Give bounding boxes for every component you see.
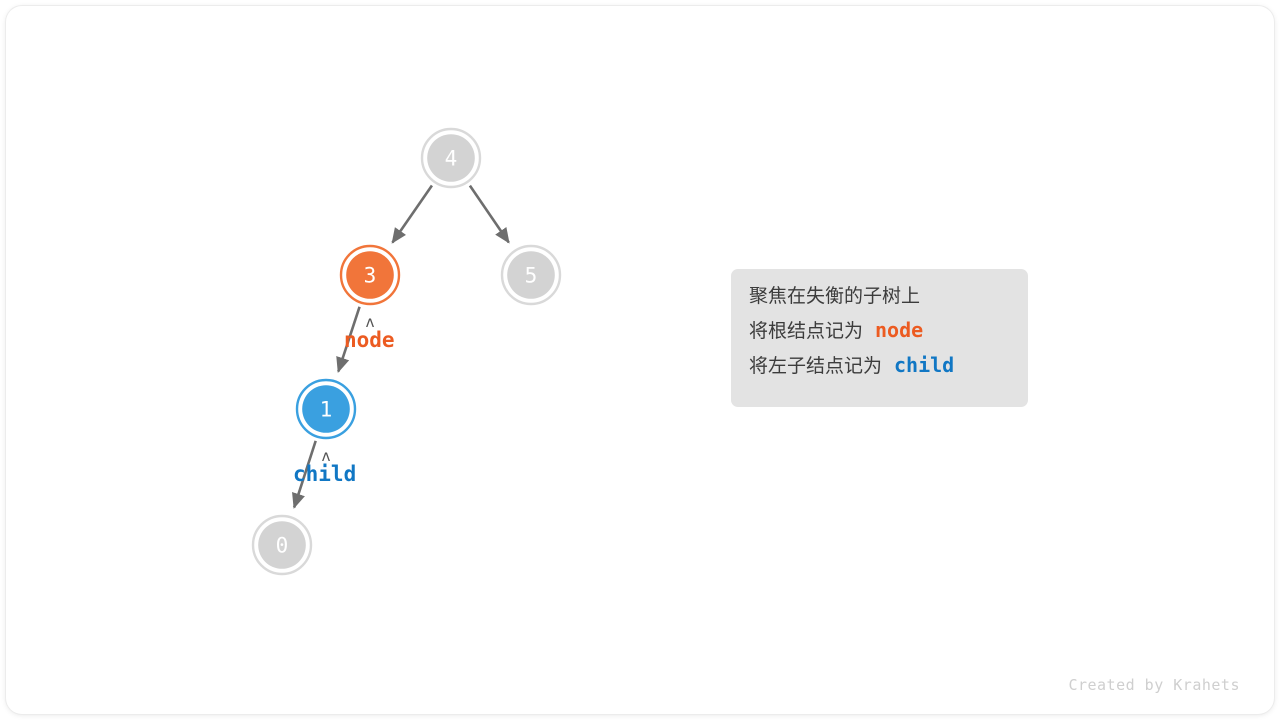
- tree-node-0[interactable]: 0: [253, 516, 311, 574]
- tree-edge-n4-n5: [470, 186, 509, 243]
- annotation-label: node: [344, 328, 395, 352]
- tree-node-3[interactable]: 3: [341, 246, 399, 304]
- annotation-node: ʌnode: [344, 313, 395, 352]
- info-box-text: 将左子结点记为: [749, 355, 882, 377]
- tree-node-value: 3: [364, 264, 377, 288]
- info-box-text: 将根结点记为: [749, 320, 863, 342]
- info-box-code: node: [875, 318, 923, 342]
- tree-edge-n4-n3: [392, 186, 431, 243]
- info-box-text: 聚焦在失衡的子树上: [749, 285, 920, 307]
- info-box-code: child: [894, 353, 954, 377]
- tree-nodes: 43510: [253, 129, 560, 574]
- tree-node-value: 5: [525, 264, 538, 288]
- tree-node-5[interactable]: 5: [502, 246, 560, 304]
- tree-node-1[interactable]: 1: [297, 380, 355, 438]
- info-box-line: 将左子结点记为child: [749, 353, 954, 377]
- avl-tree-diagram: 43510 ʌnodeʌchild 聚焦在失衡的子树上将根结点记为node将左子…: [0, 0, 1280, 720]
- annotation-child: ʌchild: [293, 447, 356, 486]
- info-box-line: 聚焦在失衡的子树上: [749, 285, 920, 307]
- credit-label: Created by Krahets: [1068, 676, 1240, 694]
- annotation-label: child: [293, 462, 356, 486]
- info-box: 聚焦在失衡的子树上将根结点记为node将左子结点记为child: [731, 269, 1028, 407]
- tree-node-value: 4: [445, 147, 458, 171]
- tree-node-value: 1: [320, 398, 333, 422]
- info-box-line: 将根结点记为node: [749, 318, 923, 342]
- tree-node-value: 0: [276, 534, 289, 558]
- figure-canvas: 43510 ʌnodeʌchild 聚焦在失衡的子树上将根结点记为node将左子…: [0, 0, 1280, 720]
- tree-node-4[interactable]: 4: [422, 129, 480, 187]
